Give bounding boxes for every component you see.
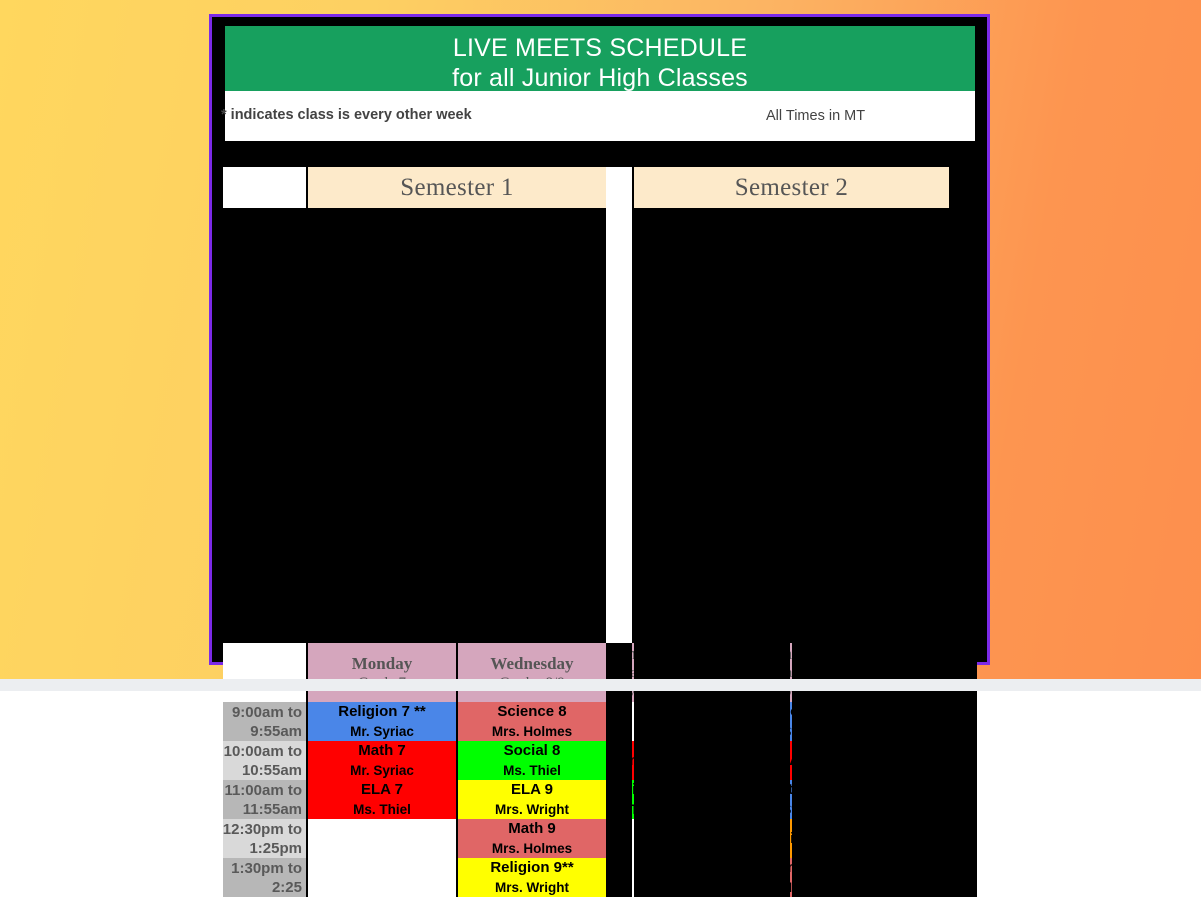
day-name: Wednesday	[490, 653, 573, 674]
teacher-name: Mr. Syriac	[350, 722, 414, 741]
time-end: 10:55am	[242, 761, 302, 780]
time-end: 11:55am	[243, 800, 302, 819]
grid-divider	[634, 702, 790, 741]
schedule-title-block: LIVE MEETS SCHEDULE for all Junior High …	[225, 26, 975, 91]
bottom-strip	[0, 679, 1201, 691]
time-start: 9:00am to	[232, 703, 302, 722]
time-start: 11:00am to	[224, 781, 302, 800]
timezone-note: All Times in MT	[766, 108, 865, 124]
class-name: Math 9	[508, 819, 556, 839]
grid-divider	[606, 819, 632, 858]
schedule-panel: LIVE MEETS SCHEDULE for all Junior High …	[209, 14, 990, 665]
time-end: 1:25pm	[249, 839, 302, 858]
grid-divider	[634, 858, 790, 897]
time-start: 12:30pm to	[223, 820, 302, 839]
class-name: Social 8	[504, 741, 561, 761]
asterisk-note: * indicates class is every other week	[221, 107, 472, 123]
grid-divider	[634, 780, 790, 819]
note-bar: * indicates class is every other week Al…	[225, 91, 975, 141]
class-name: ELA 8	[790, 751, 792, 771]
time-label-5: 1:30pm to2:25	[223, 858, 306, 897]
teacher-name: Mrs. Holmes	[492, 722, 572, 741]
teacher-name: Mrs. Wright	[495, 800, 569, 819]
teacher-name: Ms. Thiel	[353, 800, 411, 819]
page-subtitle: for all Junior High Classes	[225, 63, 975, 93]
semester-header-2: Semester 2	[634, 167, 949, 208]
time-label-1: 9:00am to9:55am	[223, 702, 306, 741]
class-name: Math 8	[790, 780, 792, 800]
class-name: Social 9	[790, 829, 792, 849]
grid-divider	[634, 643, 790, 702]
day-header-2: WednesdayGrades 8/9	[458, 643, 606, 702]
class-cell[interactable]: Math 7Mr. Syriac	[308, 741, 456, 780]
grid-divider	[634, 741, 790, 780]
teacher-name: Mrs. Holmes	[790, 878, 792, 897]
class-cell[interactable]: Science 8Mrs. Holmes	[458, 702, 606, 741]
class-name: Religion 9**	[490, 858, 573, 878]
grid-divider	[606, 643, 632, 702]
class-cell[interactable]: Math 8Mr. Syriac	[790, 780, 792, 819]
time-start: 10:00am to	[224, 742, 302, 761]
day-name: Monday	[352, 653, 412, 674]
teacher-name: Mr. Syriac	[790, 800, 792, 819]
class-cell[interactable]: Social 8Ms. Thiel	[458, 741, 606, 780]
time-label-2: 10:00am to10:55am	[223, 741, 306, 780]
class-name: Science 8	[497, 702, 566, 722]
teacher-name: Ms. Thiel	[503, 761, 561, 780]
time-end: 2:25	[272, 878, 302, 897]
class-cell[interactable]: ELA 7Ms. Thiel	[308, 780, 456, 819]
class-name: ELA 9	[511, 780, 553, 800]
grid-divider	[606, 858, 632, 897]
class-name: Religion 7 **	[338, 702, 426, 722]
class-cell[interactable]: Religion 8**Mr. Syriac	[790, 702, 792, 741]
class-cell[interactable]: Religion 9**Mrs. Wright	[458, 858, 606, 897]
semester-spacer	[606, 167, 632, 643]
teacher-name: Mrs. Holmes	[492, 839, 572, 858]
teacher-name: Mrs. Wright	[495, 878, 569, 897]
time-start: 1:30pm to	[231, 859, 302, 878]
semester-header-1: Semester 1	[308, 167, 606, 208]
grid-corner-2	[223, 643, 306, 702]
class-cell[interactable]: Social 9	[790, 819, 792, 858]
day-name: Wednesday	[790, 643, 792, 664]
class-cell[interactable]: Religion 7 **Mr. Syriac	[308, 702, 456, 741]
day-header-1: MondayGrade 7	[308, 643, 456, 702]
teacher-name: Mr. Syriac	[790, 722, 792, 741]
page-title: LIVE MEETS SCHEDULE	[225, 33, 975, 63]
schedule-grid: Semester 1Semester 2MondayGrade 7Wednesd…	[223, 167, 977, 897]
grid-corner	[223, 167, 306, 208]
empty-slot	[308, 819, 456, 858]
time-label-3: 11:00am to11:55am	[223, 780, 306, 819]
time-label-4: 12:30pm to1:25pm	[223, 819, 306, 858]
class-cell[interactable]: Math 9Mrs. Holmes	[458, 819, 606, 858]
class-cell[interactable]: Science 9Mrs. Holmes	[790, 858, 792, 897]
empty-slot	[308, 858, 456, 897]
teacher-name: Mr. Syriac	[350, 761, 414, 780]
page-background: LIVE MEETS SCHEDULE for all Junior High …	[0, 0, 1201, 691]
grid-divider	[606, 741, 632, 780]
class-name: Religion 8**	[790, 702, 792, 722]
class-name: Science 9	[790, 858, 792, 878]
grid-divider	[606, 702, 632, 741]
class-name: Math 7	[358, 741, 406, 761]
grid-divider	[606, 780, 632, 819]
class-cell[interactable]: ELA 8	[790, 741, 792, 780]
day-header-4: WednesdayGrades 8/9	[790, 643, 792, 702]
class-cell[interactable]: ELA 9Mrs. Wright	[458, 780, 606, 819]
time-end: 9:55am	[250, 722, 302, 741]
grid-divider	[634, 819, 790, 858]
class-name: ELA 7	[361, 780, 403, 800]
